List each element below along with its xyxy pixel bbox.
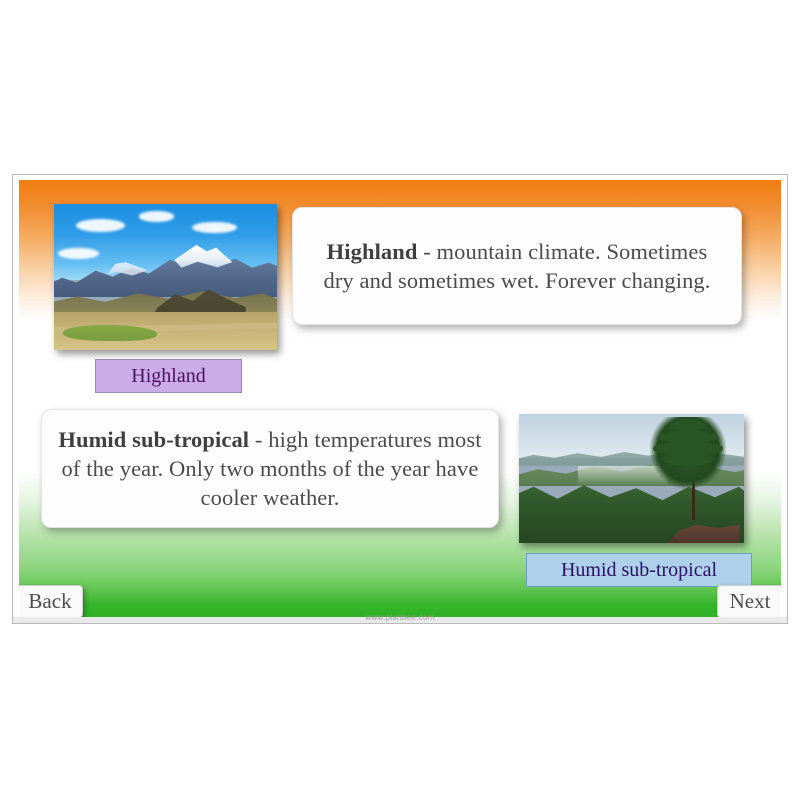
humid-subtropical-description-text: Humid sub-tropical - high temperatures m… bbox=[58, 425, 482, 513]
cloud-icon bbox=[76, 219, 125, 232]
highland-description-card: Highland - mountain climate. Sometimes d… bbox=[292, 207, 742, 325]
cloud-icon bbox=[192, 222, 237, 234]
highland-term: Highland bbox=[327, 239, 418, 264]
back-button-label: Back bbox=[28, 589, 71, 614]
watermark: www.planbee.com bbox=[13, 613, 787, 622]
slide-canvas: Highland Highland - mountain climate. So… bbox=[19, 180, 781, 617]
cloud-icon bbox=[139, 211, 175, 221]
humid-subtropical-term: Humid sub-tropical bbox=[58, 427, 249, 452]
screenshot-canvas: Highland Highland - mountain climate. So… bbox=[0, 0, 800, 800]
grass-patch bbox=[63, 325, 157, 341]
highland-label-text: Highland bbox=[131, 365, 205, 388]
next-button-label: Next bbox=[730, 589, 771, 614]
humid-subtropical-photo[interactable] bbox=[519, 414, 744, 543]
highland-photo[interactable] bbox=[54, 204, 277, 350]
humid-subtropical-label-text: Humid sub-tropical bbox=[561, 559, 717, 582]
humid-subtropical-label[interactable]: Humid sub-tropical bbox=[526, 553, 752, 587]
highland-label[interactable]: Highland bbox=[95, 359, 242, 393]
pine-tree-icon bbox=[650, 417, 727, 489]
humid-subtropical-description-card: Humid sub-tropical - high temperatures m… bbox=[41, 409, 499, 528]
slide-frame: Highland Highland - mountain climate. So… bbox=[12, 174, 788, 624]
highland-description-text: Highland - mountain climate. Sometimes d… bbox=[309, 237, 725, 296]
